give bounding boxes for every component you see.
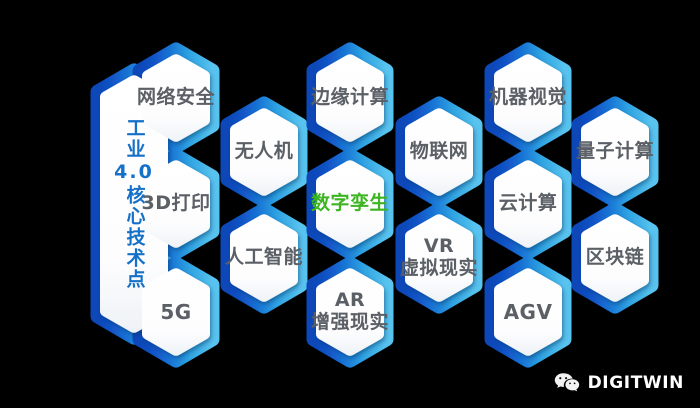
hex-tile-machine-vision: [494, 54, 562, 142]
hex-tile-vr: [405, 214, 473, 302]
hex-tile-edge-computing: [316, 54, 384, 142]
hex-tile-quantum-computing: [581, 108, 649, 196]
hex-tile-cloud-computing: [494, 160, 562, 248]
wechat-icon: [554, 372, 580, 394]
hex-tile-3d-printing: [142, 160, 210, 248]
hex-tile-digital-twin: [316, 160, 384, 248]
hex-tile-blockchain: [581, 214, 649, 302]
brand-watermark[interactable]: DIGITWIN: [554, 372, 684, 394]
hex-tile-agv: [494, 268, 562, 356]
hex-tile-drone: [230, 108, 298, 196]
honeycomb-graphic: [0, 0, 700, 408]
brand-name: DIGITWIN: [588, 373, 684, 393]
infographic-canvas: 工业 4.0 核心技术点 网络安全 边缘计算 机器视觉 无人机 物联网 量子计算…: [0, 0, 700, 408]
hex-tile-ar: [316, 268, 384, 356]
hex-tile-iot: [405, 108, 473, 196]
hex-tile-5g: [142, 268, 210, 356]
hex-tile-network-security: [142, 54, 210, 142]
hex-tile-ai: [230, 214, 298, 302]
